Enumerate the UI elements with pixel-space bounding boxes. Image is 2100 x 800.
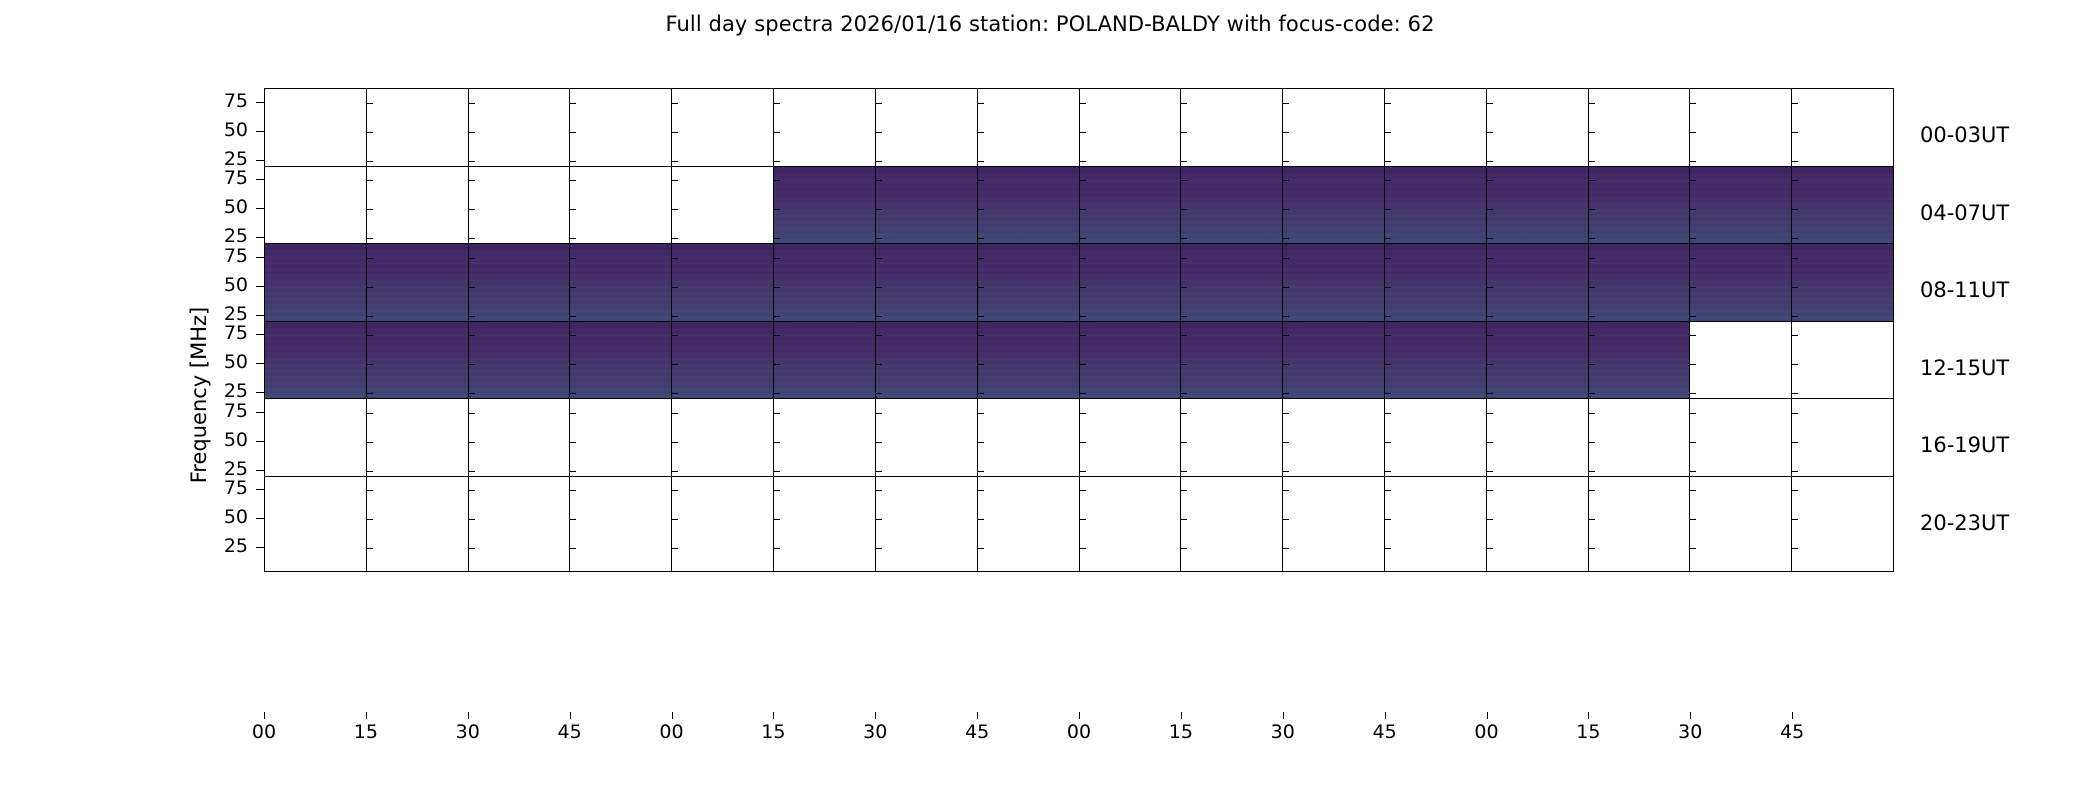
y-tick-mark-inner (978, 132, 984, 133)
y-tick-mark-inner (1080, 180, 1086, 181)
y-tick-mark (256, 286, 264, 287)
spectrogram-row-20-23ut[interactable] (264, 476, 1894, 572)
y-tick-mark-inner (1690, 287, 1696, 288)
y-tick-mark-inner (1792, 442, 1798, 443)
y-tick-mark (256, 441, 264, 442)
spectrogram-panel (570, 477, 672, 571)
y-tick-mark-inner (1283, 103, 1289, 104)
y-tick-mark-inner (774, 238, 780, 239)
y-tick-label: 25 (202, 227, 248, 246)
y-tick-mark-inner (1080, 413, 1086, 414)
y-tick-mark-inner (978, 442, 984, 443)
y-tick-mark-inner (1792, 393, 1798, 394)
y-tick-mark-inner (570, 519, 576, 520)
y-tick-mark (256, 131, 264, 132)
y-tick-mark-inner (1181, 180, 1187, 181)
spectrogram-panel (978, 477, 1080, 571)
y-tick-mark (256, 392, 264, 393)
y-tick-label: 25 (202, 382, 248, 401)
y-tick-mark-inner (1080, 316, 1086, 317)
y-tick-mark-inner (774, 132, 780, 133)
y-tick-mark (256, 547, 264, 548)
y-tick-mark-inner (876, 335, 882, 336)
y-tick-mark-inner (1283, 209, 1289, 210)
y-tick-mark-inner (1283, 413, 1289, 414)
y-tick-mark-inner (876, 103, 882, 104)
y-tick-mark-inner (876, 519, 882, 520)
y-tick-mark (256, 412, 264, 413)
y-tick-mark-inner (1385, 471, 1391, 472)
y-tick-mark-inner (1181, 316, 1187, 317)
y-tick-mark-inner (1792, 238, 1798, 239)
row-label-08-11ut: 08-11UT (1920, 280, 2009, 301)
y-tick-mark (256, 179, 264, 180)
y-tick-mark-inner (1589, 490, 1595, 491)
y-tick-mark-inner (876, 287, 882, 288)
y-tick-mark-inner (1385, 364, 1391, 365)
y-tick-mark-inner (774, 490, 780, 491)
y-tick-mark-inner (570, 490, 576, 491)
x-tick-mark (773, 712, 774, 719)
y-tick-label: 25 (202, 460, 248, 479)
x-tick-mark (875, 712, 876, 719)
y-tick-mark-inner (672, 258, 678, 259)
y-tick-mark-inner (1792, 519, 1798, 520)
y-tick-mark-inner (1589, 442, 1595, 443)
y-tick-label: 75 (202, 479, 248, 498)
y-tick-mark (256, 257, 264, 258)
y-tick-mark-inner (1792, 287, 1798, 288)
y-tick-mark-inner (1080, 132, 1086, 133)
y-tick-mark-inner (1181, 161, 1187, 162)
y-tick-mark (256, 315, 264, 316)
y-tick-mark-inner (1283, 471, 1289, 472)
y-tick-mark-inner (367, 335, 373, 336)
y-tick-mark-inner (469, 103, 475, 104)
y-tick-mark-inner (367, 548, 373, 549)
y-tick-mark-inner (978, 490, 984, 491)
y-tick-mark-inner (1589, 316, 1595, 317)
y-tick-mark-inner (1181, 442, 1187, 443)
y-tick-mark-inner (1690, 161, 1696, 162)
y-tick-mark-inner (672, 238, 678, 239)
y-tick-mark-inner (1792, 161, 1798, 162)
spectrogram-panel (774, 477, 876, 571)
y-tick-mark-inner (774, 393, 780, 394)
y-tick-mark-inner (672, 442, 678, 443)
y-tick-mark-inner (1283, 442, 1289, 443)
y-tick-mark-inner (1181, 238, 1187, 239)
y-tick-label: 75 (202, 169, 248, 188)
y-tick-mark-inner (1690, 393, 1696, 394)
x-tick-label: 45 (1770, 723, 1814, 742)
y-tick-mark-inner (672, 103, 678, 104)
y-tick-mark-inner (1385, 442, 1391, 443)
y-tick-label: 50 (202, 353, 248, 372)
x-axis: 00153045001530450015304500153045 (264, 712, 1894, 752)
y-tick-mark-inner (367, 442, 373, 443)
y-tick-mark-inner (367, 103, 373, 104)
x-tick-label: 30 (853, 723, 897, 742)
y-tick-mark-inner (1181, 548, 1187, 549)
y-tick-label: 75 (202, 324, 248, 343)
y-tick-mark-inner (1283, 364, 1289, 365)
y-tick-mark-inner (978, 238, 984, 239)
y-tick-mark-inner (876, 209, 882, 210)
y-tick-mark-inner (570, 393, 576, 394)
y-tick-mark-inner (1690, 413, 1696, 414)
y-tick-mark-inner (978, 364, 984, 365)
y-tick-mark-inner (1589, 258, 1595, 259)
y-tick-label: 75 (202, 92, 248, 111)
y-tick-mark-inner (469, 316, 475, 317)
y-tick-mark-inner (1385, 180, 1391, 181)
spectrogram-panel (1690, 477, 1792, 571)
y-tick-mark-inner (876, 258, 882, 259)
y-tick-mark-inner (1283, 161, 1289, 162)
y-tick-mark-inner (1283, 180, 1289, 181)
y-tick-mark-inner (469, 393, 475, 394)
y-tick-mark-inner (774, 364, 780, 365)
y-tick-mark-inner (367, 180, 373, 181)
y-tick-mark-inner (1080, 103, 1086, 104)
y-tick-mark-inner (1487, 180, 1493, 181)
y-tick-mark-inner (367, 132, 373, 133)
y-tick-mark (256, 160, 264, 161)
y-tick-mark-inner (978, 471, 984, 472)
y-tick-mark-inner (570, 335, 576, 336)
spectrogram-panel (1181, 477, 1283, 571)
y-tick-mark-inner (570, 132, 576, 133)
y-tick-mark-inner (1589, 103, 1595, 104)
y-tick-mark-inner (367, 413, 373, 414)
y-tick-mark-inner (1080, 364, 1086, 365)
y-tick-mark-inner (1792, 413, 1798, 414)
y-tick-mark-inner (570, 180, 576, 181)
y-tick-mark-inner (570, 316, 576, 317)
y-tick-mark-inner (1792, 548, 1798, 549)
y-tick-mark-inner (672, 519, 678, 520)
x-tick-label: 00 (242, 723, 286, 742)
y-tick-mark-inner (1283, 519, 1289, 520)
y-tick-mark-inner (1589, 364, 1595, 365)
y-tick-mark-inner (672, 316, 678, 317)
y-tick-mark-inner (672, 490, 678, 491)
y-tick-mark-inner (570, 548, 576, 549)
y-tick-mark-inner (876, 490, 882, 491)
y-tick-mark-inner (1690, 335, 1696, 336)
x-tick-label: 00 (1465, 723, 1509, 742)
y-tick-mark-inner (978, 316, 984, 317)
y-tick-mark-inner (1181, 519, 1187, 520)
row-label-20-23ut: 20-23UT (1920, 513, 2009, 534)
y-tick-mark-inner (1385, 161, 1391, 162)
spectrogram-panel (1283, 477, 1385, 571)
y-tick-mark-inner (367, 364, 373, 365)
y-tick-mark-inner (1589, 209, 1595, 210)
y-tick-mark-inner (469, 209, 475, 210)
y-tick-mark-inner (1283, 393, 1289, 394)
spectrogram-panel (265, 477, 367, 571)
y-tick-mark-inner (1080, 209, 1086, 210)
y-tick-mark-inner (876, 413, 882, 414)
y-tick-mark-inner (978, 393, 984, 394)
y-tick-mark-inner (774, 180, 780, 181)
y-tick-mark-inner (1487, 316, 1493, 317)
y-tick-mark-inner (1283, 287, 1289, 288)
y-tick-mark-inner (672, 209, 678, 210)
y-tick-mark-inner (876, 238, 882, 239)
y-tick-mark-inner (469, 132, 475, 133)
y-tick-mark-inner (1487, 258, 1493, 259)
y-tick-mark-inner (1080, 393, 1086, 394)
x-tick-mark (468, 712, 469, 719)
x-tick-label: 00 (1057, 723, 1101, 742)
y-tick-mark-inner (1487, 335, 1493, 336)
y-tick-mark-inner (876, 364, 882, 365)
y-tick-mark-inner (774, 161, 780, 162)
y-tick-mark-inner (876, 548, 882, 549)
y-tick-mark-inner (1385, 316, 1391, 317)
y-tick-mark-inner (1283, 490, 1289, 491)
y-tick-mark-inner (978, 413, 984, 414)
y-tick-mark-inner (978, 258, 984, 259)
spectrogram-panel (1385, 477, 1487, 571)
y-tick-mark-inner (1589, 519, 1595, 520)
y-tick-mark-inner (672, 413, 678, 414)
y-tick-mark-inner (1589, 548, 1595, 549)
y-tick-mark-inner (570, 238, 576, 239)
y-tick-mark-inner (1690, 238, 1696, 239)
y-tick-mark (256, 334, 264, 335)
y-tick-mark-inner (978, 161, 984, 162)
y-tick-mark-inner (978, 335, 984, 336)
y-tick-mark-inner (1589, 161, 1595, 162)
y-tick-mark-inner (1792, 103, 1798, 104)
y-tick-mark-inner (1283, 258, 1289, 259)
y-tick-mark-inner (367, 316, 373, 317)
y-tick-label: 25 (202, 537, 248, 556)
y-tick-mark-inner (1080, 335, 1086, 336)
y-tick-mark-inner (1080, 548, 1086, 549)
y-tick-mark-inner (469, 335, 475, 336)
y-tick-mark-inner (1385, 393, 1391, 394)
y-tick-label: 50 (202, 276, 248, 295)
y-tick-mark-inner (1181, 335, 1187, 336)
x-tick-mark (1283, 712, 1284, 719)
y-tick-mark-inner (1385, 548, 1391, 549)
y-tick-mark-inner (1487, 393, 1493, 394)
y-tick-mark-inner (1080, 490, 1086, 491)
y-tick-mark-inner (1487, 238, 1493, 239)
x-tick-label: 00 (650, 723, 694, 742)
x-tick-mark (1181, 712, 1182, 719)
y-tick-mark-inner (1080, 258, 1086, 259)
y-tick-mark-inner (1487, 490, 1493, 491)
y-tick-mark-inner (367, 471, 373, 472)
y-tick-mark-inner (978, 548, 984, 549)
y-tick-mark-inner (570, 364, 576, 365)
y-tick-mark-inner (367, 238, 373, 239)
y-tick-mark-inner (876, 393, 882, 394)
x-tick-label: 15 (1566, 723, 1610, 742)
y-tick-mark-inner (1792, 364, 1798, 365)
y-tick-mark-inner (1792, 258, 1798, 259)
x-tick-mark (977, 712, 978, 719)
y-tick-mark-inner (978, 209, 984, 210)
x-tick-label: 15 (1159, 723, 1203, 742)
y-tick-mark-inner (1181, 393, 1187, 394)
y-tick-mark-inner (1080, 287, 1086, 288)
y-tick-mark-inner (1690, 132, 1696, 133)
y-tick-mark-inner (774, 519, 780, 520)
y-tick-mark-inner (367, 209, 373, 210)
y-tick-mark-inner (1385, 519, 1391, 520)
x-tick-mark (1588, 712, 1589, 719)
y-tick-mark (256, 208, 264, 209)
row-label-04-07ut: 04-07UT (1920, 203, 2009, 224)
y-tick-mark-inner (1487, 364, 1493, 365)
y-tick-mark-inner (1080, 519, 1086, 520)
y-tick-mark-inner (469, 548, 475, 549)
y-tick-label: 50 (202, 508, 248, 527)
y-tick-mark-inner (774, 287, 780, 288)
y-tick-mark-inner (469, 413, 475, 414)
y-tick-mark-inner (1181, 132, 1187, 133)
x-tick-mark (1792, 712, 1793, 719)
y-tick-mark-inner (1283, 335, 1289, 336)
y-tick-mark-inner (672, 393, 678, 394)
y-tick-mark-inner (1487, 471, 1493, 472)
y-tick-mark-inner (672, 180, 678, 181)
x-tick-label: 45 (955, 723, 999, 742)
y-tick-mark-inner (570, 258, 576, 259)
x-tick-mark (366, 712, 367, 719)
y-tick-mark-inner (1690, 180, 1696, 181)
y-tick-mark-inner (570, 103, 576, 104)
y-tick-mark-inner (876, 161, 882, 162)
y-tick-mark-inner (774, 335, 780, 336)
y-tick-mark-inner (1690, 209, 1696, 210)
row-label-00-03ut: 00-03UT (1920, 125, 2009, 146)
y-tick-mark-inner (774, 209, 780, 210)
y-tick-mark-inner (1181, 413, 1187, 414)
x-tick-label: 30 (1261, 723, 1305, 742)
y-tick-mark-inner (570, 209, 576, 210)
y-tick-mark-inner (774, 413, 780, 414)
y-tick-mark-inner (672, 335, 678, 336)
y-tick-mark-inner (876, 180, 882, 181)
y-tick-mark-inner (978, 519, 984, 520)
y-tick-mark-inner (1589, 413, 1595, 414)
y-tick-mark-inner (469, 471, 475, 472)
y-tick-mark-inner (1385, 287, 1391, 288)
x-tick-label: 15 (751, 723, 795, 742)
y-tick-mark-inner (469, 364, 475, 365)
y-tick-label: 50 (202, 431, 248, 450)
y-tick-mark-inner (774, 471, 780, 472)
page-title: Full day spectra 2026/01/16 station: POL… (0, 12, 2100, 36)
y-tick-mark-inner (1080, 161, 1086, 162)
y-tick-mark-inner (1283, 316, 1289, 317)
y-tick-label: 75 (202, 247, 248, 266)
y-tick-mark-inner (1792, 180, 1798, 181)
y-tick-label: 50 (202, 121, 248, 140)
y-tick-mark-inner (570, 442, 576, 443)
y-tick-mark-inner (672, 287, 678, 288)
y-tick-mark (256, 489, 264, 490)
spectrogram-panel (1589, 477, 1691, 571)
y-tick-mark-inner (1283, 548, 1289, 549)
y-tick-mark-inner (774, 316, 780, 317)
y-tick-mark-inner (774, 258, 780, 259)
y-tick-mark-inner (978, 180, 984, 181)
y-tick-mark-inner (876, 442, 882, 443)
y-tick-mark-inner (1589, 335, 1595, 336)
y-tick-mark-inner (672, 132, 678, 133)
y-tick-mark-inner (1181, 258, 1187, 259)
y-tick-mark-inner (1690, 258, 1696, 259)
x-tick-mark (1487, 712, 1488, 719)
y-tick-mark-inner (978, 287, 984, 288)
x-tick-label: 15 (344, 723, 388, 742)
y-tick-mark-inner (1487, 442, 1493, 443)
x-tick-mark (264, 712, 265, 719)
x-tick-label: 45 (548, 723, 592, 742)
y-tick-mark-inner (367, 393, 373, 394)
y-tick-mark-inner (1385, 335, 1391, 336)
y-tick-mark-inner (774, 103, 780, 104)
y-tick-mark-inner (1589, 287, 1595, 288)
y-tick-mark-inner (1690, 548, 1696, 549)
x-tick-label: 45 (1363, 723, 1407, 742)
y-tick-mark-inner (1589, 132, 1595, 133)
y-tick-mark-inner (1487, 519, 1493, 520)
y-tick-mark-inner (1690, 316, 1696, 317)
y-tick-mark-inner (1589, 471, 1595, 472)
y-tick-mark-inner (1589, 393, 1595, 394)
y-tick-mark-inner (469, 238, 475, 239)
y-tick-mark-inner (1589, 238, 1595, 239)
y-tick-mark-inner (1181, 490, 1187, 491)
y-tick-mark-inner (774, 548, 780, 549)
y-tick-label: 25 (202, 150, 248, 169)
y-tick-mark-inner (1487, 209, 1493, 210)
y-tick-mark-inner (1690, 471, 1696, 472)
y-tick-mark-inner (570, 471, 576, 472)
y-tick-mark-inner (1385, 209, 1391, 210)
x-tick-mark (1690, 712, 1691, 719)
y-tick-mark (256, 237, 264, 238)
panel-grid (265, 477, 1893, 571)
y-tick-mark-inner (1792, 316, 1798, 317)
y-tick-mark-inner (672, 161, 678, 162)
spectrogram-panel (672, 477, 774, 571)
y-tick-mark (256, 470, 264, 471)
y-tick-mark-inner (469, 180, 475, 181)
y-tick-mark-inner (1181, 209, 1187, 210)
y-tick-mark-inner (1690, 490, 1696, 491)
y-tick-mark-inner (1283, 238, 1289, 239)
y-tick-mark-inner (672, 364, 678, 365)
y-tick-label: 75 (202, 402, 248, 421)
spectrogram-panel (367, 477, 469, 571)
y-tick-mark-inner (672, 548, 678, 549)
y-tick-mark-inner (1792, 132, 1798, 133)
spectrogram-panel (1792, 477, 1893, 571)
spectrogram-figure: Full day spectra 2026/01/16 station: POL… (0, 0, 2100, 800)
y-tick-mark-inner (469, 161, 475, 162)
